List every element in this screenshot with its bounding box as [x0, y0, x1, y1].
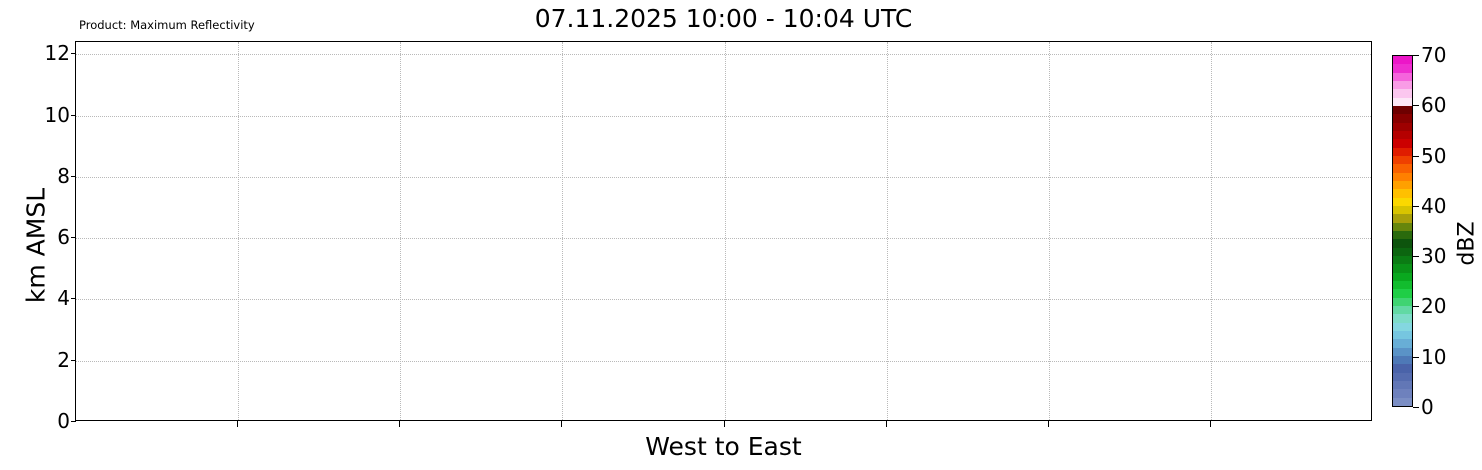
y-axis-tick-mark: [71, 176, 76, 177]
y-axis-label: km AMSL: [22, 146, 51, 346]
y-axis-tick-label: 2: [57, 348, 70, 372]
colorbar-tick-label: 50: [1421, 144, 1446, 168]
y-axis-tick-label: 6: [57, 225, 70, 249]
colorbar-tick-label: 30: [1421, 244, 1446, 268]
colorbar-band: [1393, 271, 1412, 281]
product-label: Product: Maximum Reflectivity: [79, 18, 255, 32]
colorbar-band: [1393, 346, 1412, 356]
colorbar-tick-mark: [1413, 156, 1419, 157]
colorbar-tick-label: 0: [1421, 395, 1434, 419]
colorbar-band: [1393, 313, 1412, 323]
colorbar-band: [1393, 230, 1412, 240]
colorbar-band: [1393, 388, 1412, 398]
x-axis-tick-mark: [886, 421, 887, 427]
colorbar-band: [1393, 380, 1412, 390]
x-axis-tick-mark: [237, 421, 238, 427]
colorbar-tick-label: 40: [1421, 194, 1446, 218]
colorbar-label: dBZ: [1455, 169, 1480, 319]
colorbar: [1392, 55, 1413, 407]
colorbar-band: [1393, 280, 1412, 290]
reflectivity-columns: [76, 42, 1371, 420]
colorbar-band: [1393, 355, 1412, 365]
colorbar-band: [1393, 296, 1412, 306]
x-axis-tick-mark: [1048, 421, 1049, 427]
colorbar-tick-label: 10: [1421, 345, 1446, 369]
colorbar-band: [1393, 138, 1412, 148]
colorbar-tick-mark: [1413, 306, 1419, 307]
x-axis-tick-mark: [399, 421, 400, 427]
colorbar-band: [1393, 196, 1412, 206]
colorbar-band: [1393, 255, 1412, 265]
colorbar-band: [1393, 288, 1412, 298]
y-axis-tick-mark: [71, 237, 76, 238]
colorbar-band: [1393, 246, 1412, 256]
colorbar-tick-mark: [1413, 105, 1419, 106]
colorbar-band: [1393, 155, 1412, 165]
colorbar-band: [1393, 180, 1412, 190]
colorbar-band: [1393, 113, 1412, 123]
plot-area: [75, 41, 1372, 421]
colorbar-band: [1393, 188, 1412, 198]
y-axis-tick-label: 4: [57, 286, 70, 310]
colorbar-tick-label: 20: [1421, 294, 1446, 318]
colorbar-band: [1393, 121, 1412, 131]
colorbar-band: [1393, 321, 1412, 331]
colorbar-tick-mark: [1413, 357, 1419, 358]
colorbar-band: [1393, 171, 1412, 181]
colorbar-band: [1393, 330, 1412, 340]
colorbar-band: [1393, 146, 1412, 156]
colorbar-band: [1393, 213, 1412, 223]
colorbar-band: [1393, 105, 1412, 115]
x-axis-tick-mark: [724, 421, 725, 427]
y-axis-tick-label: 12: [45, 41, 70, 65]
colorbar-band: [1393, 205, 1412, 215]
colorbar-tick-label: 70: [1421, 43, 1446, 67]
colorbar-tick-mark: [1413, 55, 1419, 56]
x-axis-tick-mark: [561, 421, 562, 427]
colorbar-band: [1393, 238, 1412, 248]
y-axis-tick-label: 0: [57, 409, 70, 433]
x-axis-label: West to East: [75, 432, 1372, 461]
colorbar-band: [1393, 130, 1412, 140]
colorbar-band: [1393, 88, 1412, 98]
colorbar-band: [1393, 71, 1412, 81]
colorbar-band: [1393, 396, 1412, 406]
colorbar-band: [1393, 96, 1412, 106]
y-axis-tick-mark: [71, 53, 76, 54]
y-axis-tick-mark: [71, 360, 76, 361]
y-axis-tick-mark: [71, 298, 76, 299]
colorbar-band: [1393, 80, 1412, 90]
y-axis-tick-mark: [71, 421, 76, 422]
y-axis-tick-mark: [71, 115, 76, 116]
colorbar-band: [1393, 363, 1412, 373]
colorbar-tick-label: 60: [1421, 93, 1446, 117]
colorbar-band: [1393, 338, 1412, 348]
colorbar-tick-mark: [1413, 256, 1419, 257]
colorbar-tick-mark: [1413, 407, 1419, 408]
colorbar-band: [1393, 63, 1412, 73]
colorbar-band: [1393, 163, 1412, 173]
y-axis-tick-label: 8: [57, 164, 70, 188]
colorbar-band: [1393, 305, 1412, 315]
page-title: 07.11.2025 10:00 - 10:04 UTC: [75, 4, 1372, 33]
colorbar-band: [1393, 221, 1412, 231]
y-axis-tick-label: 10: [45, 103, 70, 127]
colorbar-band: [1393, 55, 1412, 64]
colorbar-band: [1393, 371, 1412, 381]
colorbar-band: [1393, 263, 1412, 273]
x-axis-tick-mark: [1210, 421, 1211, 427]
radar-cross-section-figure: 07.11.2025 10:00 - 10:04 UTC Product: Ma…: [0, 0, 1482, 470]
colorbar-tick-mark: [1413, 206, 1419, 207]
